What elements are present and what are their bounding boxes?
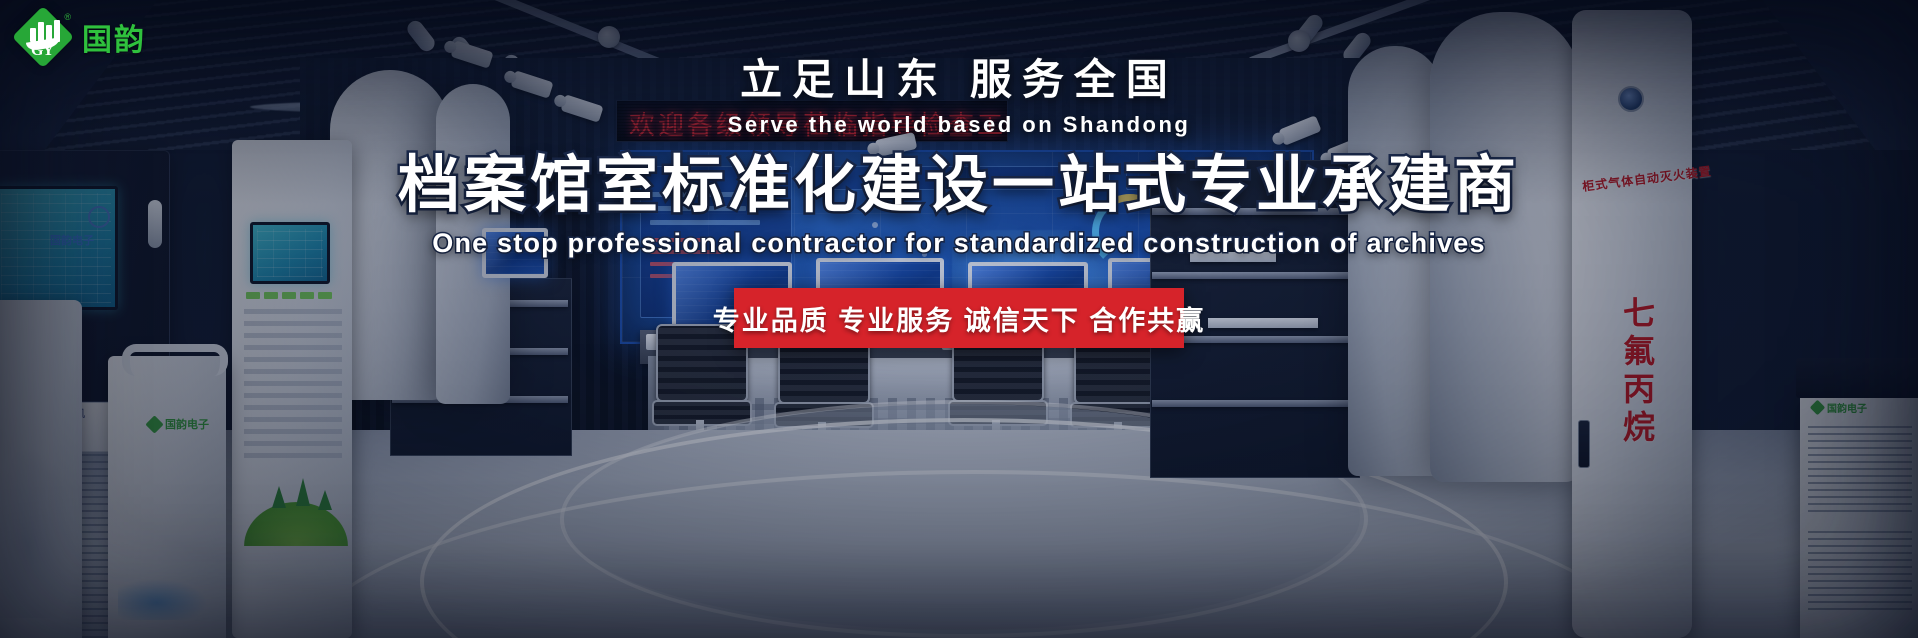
page-subtitle: One stop professional contractor for sta… — [0, 228, 1918, 259]
slogan-banner: 专业品质 专业服务 诚信天下 合作共赢 — [734, 288, 1184, 348]
hero-banner: 欢迎各级领导莅临指导检查工作 — [0, 0, 1918, 638]
banner-overlay: GY ® 国韵 立足山东 服务全国 Serve the world based … — [0, 0, 1918, 638]
logo-building-bar — [30, 28, 36, 42]
registered-trademark-icon: ® — [64, 12, 71, 22]
page-title: 档案馆室标准化建设一站式专业承建商 — [0, 134, 1918, 224]
slogan-text: 专业品质 专业服务 诚信天下 合作共赢 — [713, 299, 1206, 338]
headline-chinese: 立足山东 服务全国 — [0, 46, 1918, 107]
